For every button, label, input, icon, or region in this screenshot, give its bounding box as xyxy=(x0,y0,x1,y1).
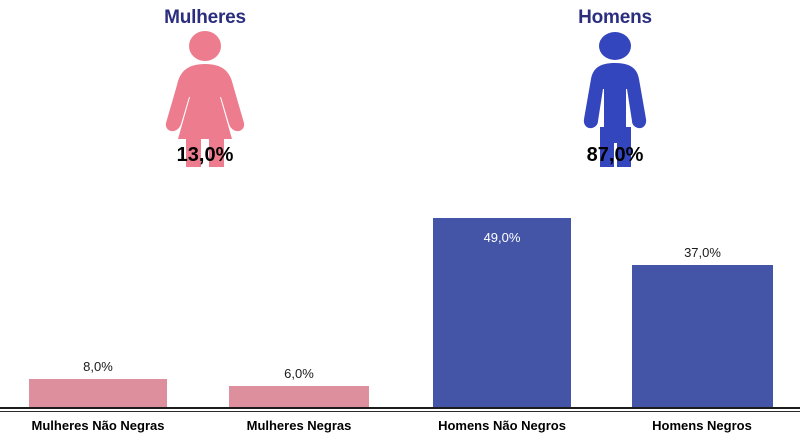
category-label-mulheres-nao-negras: Mulheres Não Negras xyxy=(8,419,188,432)
category-label-mulheres-negras: Mulheres Negras xyxy=(219,419,379,432)
pictogram-title-mulheres: Mulheres xyxy=(95,8,315,27)
x-axis-line xyxy=(0,407,800,409)
bar-value-label: 8,0% xyxy=(28,360,168,373)
pictogram-group-mulheres: Mulheres 13,0% xyxy=(95,8,315,165)
infographic-canvas: Mulheres 13,0% Homens 87,0% xyxy=(0,0,800,434)
bar-rect xyxy=(432,217,572,408)
pictogram-value-mulheres: 13,0% xyxy=(95,145,315,165)
bar-value-label: 6,0% xyxy=(228,367,370,380)
bar-rect xyxy=(28,378,168,408)
pictogram-value-homens: 87,0% xyxy=(505,145,725,165)
bar-homens-negros[interactable]: 37,0% xyxy=(631,264,774,408)
bar-chart: 8,0% 6,0% 49,0% 37,0% Mulheres Não Negra… xyxy=(0,200,800,434)
bar-rect xyxy=(228,385,370,408)
bar-value-label: 37,0% xyxy=(631,246,774,259)
bar-mulheres-nao-negras[interactable]: 8,0% xyxy=(28,378,168,408)
bar-rect xyxy=(631,264,774,408)
pictogram-title-homens: Homens xyxy=(505,8,725,27)
category-label-homens-nao-negros: Homens Não Negros xyxy=(412,419,592,432)
bar-homens-nao-negros[interactable]: 49,0% xyxy=(432,217,572,408)
x-axis-line-secondary xyxy=(0,411,800,412)
bar-value-label: 49,0% xyxy=(432,231,572,244)
pictogram-group-homens: Homens 87,0% xyxy=(505,8,725,165)
category-label-homens-negros: Homens Negros xyxy=(622,419,782,432)
bar-mulheres-negras[interactable]: 6,0% xyxy=(228,385,370,408)
